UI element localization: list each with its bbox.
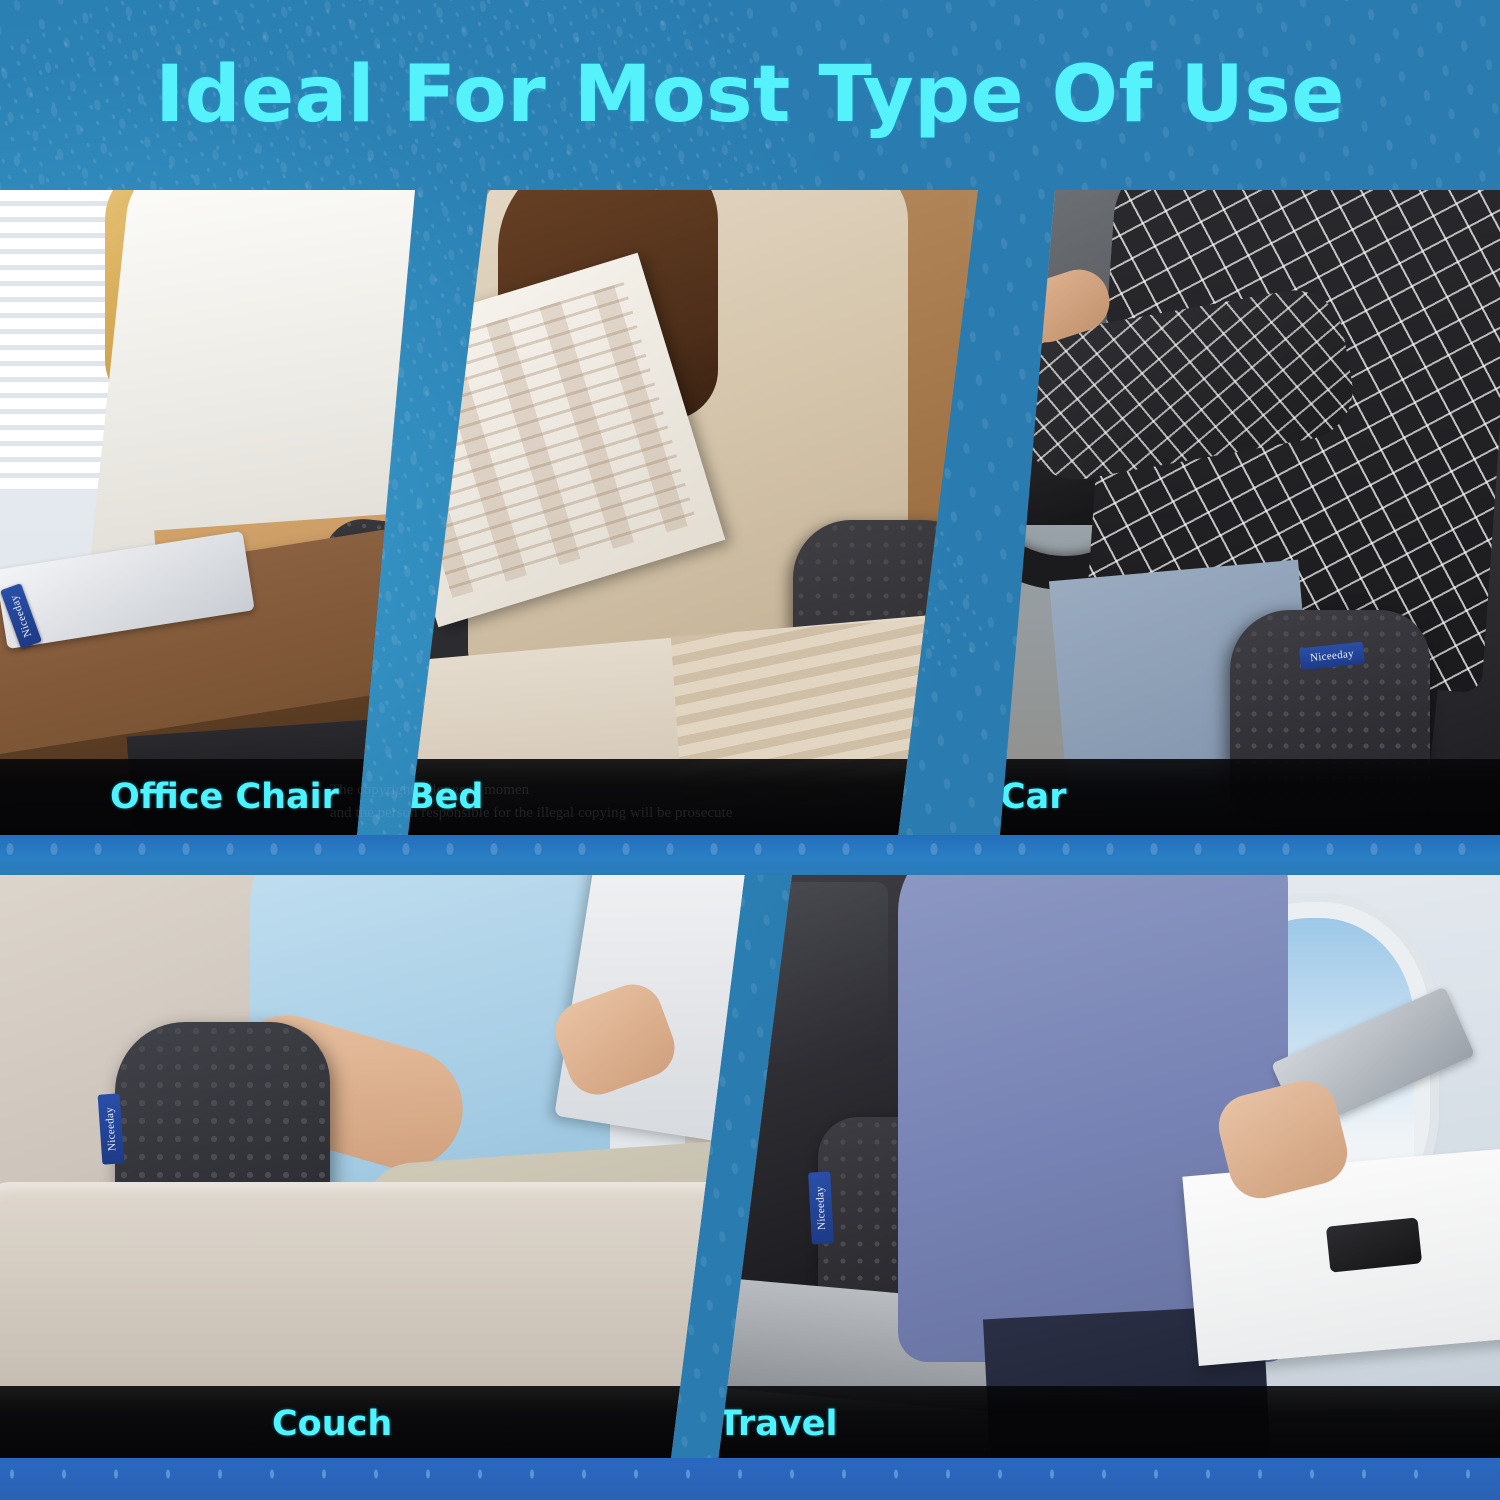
panel-car[interactable]: Niceeday Car — [1000, 190, 1500, 835]
caption-couch: Couch — [0, 1404, 392, 1444]
brand-tag-label: Niceeday — [1310, 648, 1355, 665]
brand-tag-label: Niceeday — [814, 1186, 828, 1231]
photo-car: Niceeday — [1000, 190, 1500, 835]
seat-headrest — [758, 882, 888, 1062]
caption-bar-office-chair: Office Chair — [0, 759, 415, 835]
caption-bar-bed: Bed — [408, 759, 978, 835]
photo-office-chair: Niceeday — [0, 190, 415, 835]
page-title: Ideal For Most Type Of Use — [155, 50, 1344, 140]
caption-bed: Bed — [408, 777, 978, 817]
panel-travel[interactable]: Niceeday Travel — [718, 872, 1500, 1462]
caption-office-chair: Office Chair — [0, 777, 339, 817]
panel-office-chair[interactable]: Niceeday Office Chair — [0, 190, 415, 835]
brand-tag: Niceeday — [808, 1171, 834, 1244]
smartphone — [1326, 1217, 1422, 1272]
photo-couch: Niceeday — [0, 872, 745, 1462]
infographic-canvas: Ideal For Most Type Of Use Niceeday — [0, 0, 1500, 1500]
panel-bed[interactable]: Niceeday Bed — [408, 190, 978, 835]
photo-travel: Niceeday — [718, 872, 1500, 1462]
caption-bar-travel: Travel — [718, 1386, 1500, 1462]
panel-row-top: Niceeday Office Chair Niceeday — [0, 190, 1500, 835]
brand-tag-label: Niceeday — [938, 570, 960, 616]
header: Ideal For Most Type Of Use — [0, 0, 1500, 190]
footer-band — [0, 1458, 1500, 1500]
caption-bar-car: Car — [1000, 759, 1500, 835]
brand-tag-label: Niceeday — [103, 1107, 118, 1152]
brand-tag: Niceeday — [930, 558, 967, 627]
divider-band-middle — [0, 835, 1500, 875]
photo-bed: Niceeday — [408, 190, 978, 835]
caption-car: Car — [1000, 777, 1500, 817]
panel-couch[interactable]: Niceeday Couch — [0, 872, 745, 1462]
panel-row-bottom: Niceeday Couch Niceeday — [0, 872, 1500, 1462]
caption-bar-couch: Couch — [0, 1386, 745, 1462]
caption-travel: Travel — [718, 1404, 1500, 1444]
